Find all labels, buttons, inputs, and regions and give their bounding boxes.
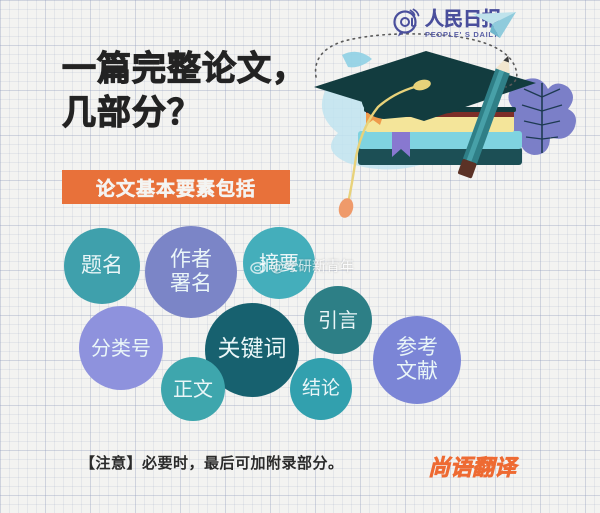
section-banner-label: 论文基本要素包括 bbox=[96, 174, 256, 201]
paper-plane-icon bbox=[470, 10, 518, 44]
weibo-watermark: @考研新青年 bbox=[250, 256, 354, 276]
element-bubble: 分类号 bbox=[79, 306, 163, 390]
section-banner: 论文基本要素包括 bbox=[62, 170, 290, 204]
element-bubble: 结论 bbox=[290, 358, 352, 420]
element-bubble: 引言 bbox=[304, 286, 372, 354]
footer-note: 【注意】必要时，最后可加附录部分。 bbox=[80, 452, 344, 473]
at-sign-icon bbox=[392, 8, 422, 38]
element-bubble: 正文 bbox=[161, 357, 225, 421]
weibo-watermark-text: @考研新青年 bbox=[270, 256, 354, 276]
element-bubble: 参考 文献 bbox=[373, 316, 461, 404]
element-bubble: 题名 bbox=[64, 228, 140, 304]
shangyu-translation-logo: 尚语翻译 bbox=[428, 450, 516, 482]
page-title: 一篇完整论文， 几部分？ bbox=[62, 48, 307, 135]
poster-canvas: 人民日报 PEOPLE' S DAILY bbox=[0, 0, 600, 513]
weibo-icon bbox=[250, 258, 267, 275]
element-bubble: 作者 署名 bbox=[145, 226, 237, 318]
graduation-cap-books-illustration bbox=[300, 25, 600, 210]
